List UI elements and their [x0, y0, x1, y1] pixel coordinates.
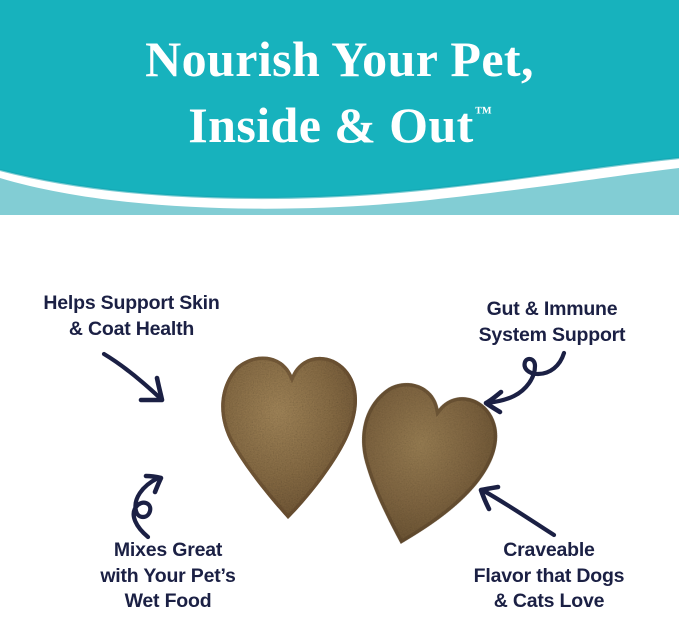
trademark-symbol: ™ [475, 103, 492, 122]
callout-craveable-flavor: Craveable Flavor that Dogs & Cats Love [424, 538, 674, 615]
callout-mixes-great-wet-food: Mixes Great with Your Pet’s Wet Food [48, 538, 288, 615]
curly-loop-arrow-up-icon [118, 473, 213, 541]
callout-gut-immune-support: Gut & Immune System Support [432, 297, 672, 348]
curved-arrow-down-right-icon [98, 350, 193, 410]
curved-arrow-up-left-icon [462, 477, 567, 539]
benefits-section: Helps Support Skin & Coat Health Gut & I… [0, 215, 679, 624]
product-image [182, 345, 492, 545]
title-line-2: Inside & Out [188, 97, 473, 153]
page-title: Nourish Your Pet, Inside & Out™ [0, 26, 679, 158]
title-line-1: Nourish Your Pet, [0, 26, 679, 92]
header-banner: Nourish Your Pet, Inside & Out™ [0, 0, 679, 215]
kibble-piece-right [182, 345, 492, 545]
curly-loop-arrow-left-icon [478, 348, 573, 416]
callout-skin-coat-health: Helps Support Skin & Coat Health [4, 291, 259, 342]
title-line-2-wrap: Inside & Out™ [0, 92, 679, 158]
